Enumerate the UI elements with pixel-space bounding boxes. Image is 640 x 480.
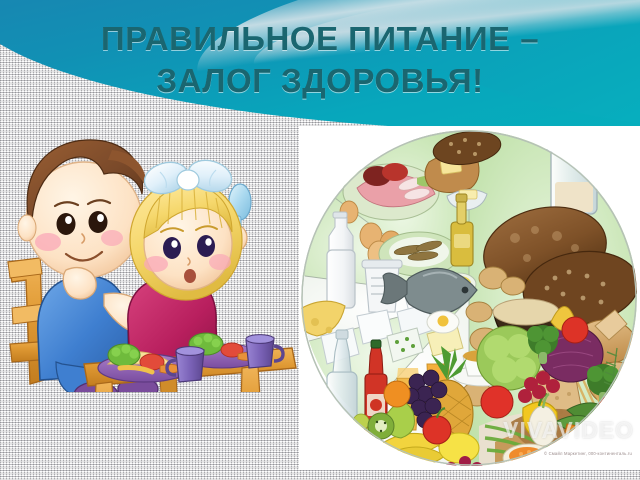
girl-figure — [128, 156, 251, 370]
slide-canvas: ПРАВИЛЬНОЕ ПИТАНИЕ – ЗАЛОГ ЗДОРОВЬЯ! — [0, 0, 640, 480]
slide-title: ПРАВИЛЬНОЕ ПИТАНИЕ – ЗАЛОГ ЗДОРОВЬЯ! — [0, 18, 640, 102]
children-illustration — [0, 112, 300, 392]
watermark-credit: © Смайл Маркетинг, 000-континенталь.ru — [544, 451, 632, 456]
title-line-2: ЗАЛОГ ЗДОРОВЬЯ! — [0, 60, 640, 102]
grain-jar — [547, 142, 601, 214]
food-wheel-panel: VIVAVIDEO © Смайл Маркетинг, 000-контине… — [299, 126, 640, 470]
title-line-1: ПРАВИЛЬНОЕ ПИТАНИЕ – — [0, 18, 640, 60]
food-wheel-svg — [299, 126, 640, 470]
